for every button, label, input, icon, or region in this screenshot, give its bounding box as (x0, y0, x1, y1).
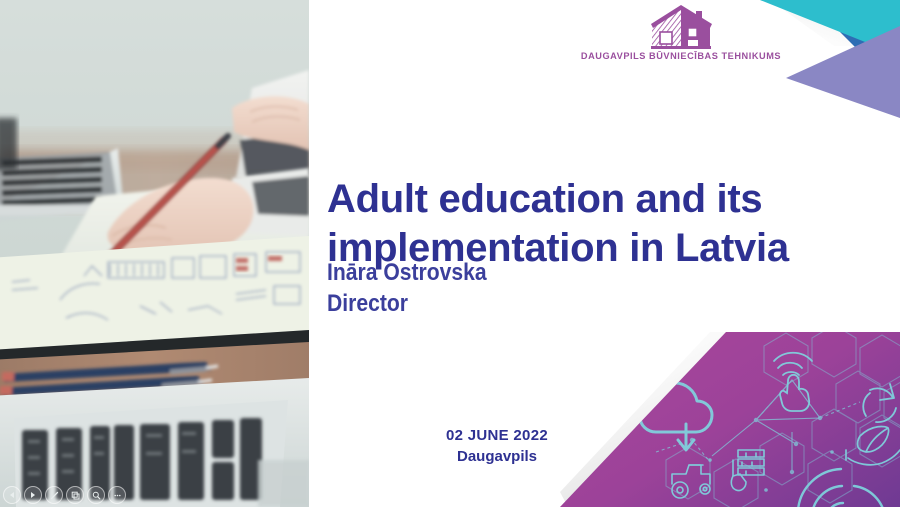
pen-icon (50, 491, 59, 500)
more-options-button[interactable] (108, 486, 126, 504)
date-location-block: 02 JUNE 2022 Daugavpils (327, 427, 667, 465)
slide-content: Adult education and its implementation i… (327, 0, 847, 507)
triangle-right-icon (29, 491, 37, 499)
slide-photo (0, 0, 309, 507)
slide-city: Daugavpils (327, 448, 667, 465)
ellipsis-icon (113, 491, 122, 500)
slide-thumbnails-button[interactable] (66, 486, 84, 504)
next-slide-button[interactable] (24, 486, 42, 504)
presenter-role: Director (327, 289, 679, 320)
presenter-block: Ināra Ostrovska Director (327, 258, 679, 319)
previous-slide-button[interactable] (3, 486, 21, 504)
magnifier-icon (92, 491, 101, 500)
presentation-slide: DAUGAVPILS BŪVNIECĪBAS TEHNIKUMS Adult e… (0, 0, 900, 507)
slide-player-toolbar[interactable] (3, 486, 126, 504)
presenter-name: Ināra Ostrovska (327, 259, 487, 286)
triangle-left-icon (8, 491, 16, 499)
pen-tool-button[interactable] (45, 486, 63, 504)
zoom-button[interactable] (87, 486, 105, 504)
grid-icon (71, 491, 80, 500)
slide-date: 02 JUNE 2022 (327, 427, 667, 444)
slide-title-line-1: Adult education and its (327, 177, 762, 221)
